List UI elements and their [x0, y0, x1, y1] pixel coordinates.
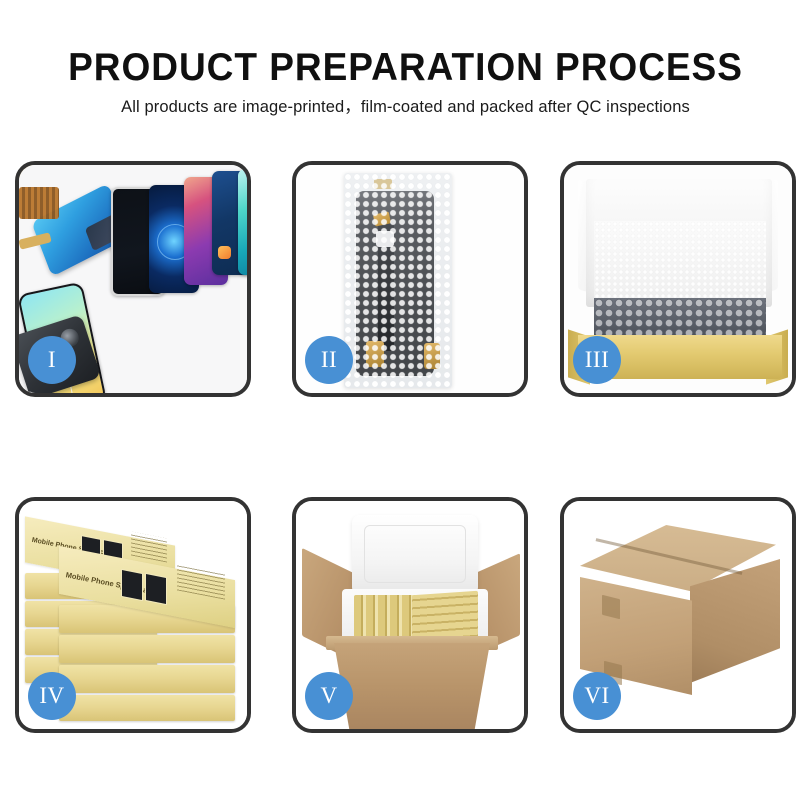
- process-step-grid: I II: [0, 0, 811, 811]
- gold-box-stack-front: [59, 695, 235, 721]
- box-window-front-1: [121, 569, 143, 601]
- process-step-5: V: [292, 497, 528, 733]
- phone-teal: [238, 169, 247, 275]
- step-badge-4: IV: [28, 672, 76, 720]
- process-step-4: Mobile Phone Spare Parts Mobile Phone Sp…: [15, 497, 251, 733]
- step-badge-6: VI: [573, 672, 621, 720]
- process-step-1: I: [15, 161, 251, 397]
- bubble-wrapped-contents: [594, 298, 766, 338]
- step-badge-3: III: [573, 336, 621, 384]
- foam-box-lid: [352, 515, 478, 595]
- process-step-2: II: [292, 161, 528, 397]
- foam-liner: [594, 221, 766, 299]
- gold-contact-left: [366, 341, 384, 367]
- product-preparation-infographic: PRODUCT PREPARATION PROCESS All products…: [0, 0, 811, 811]
- screen-connector: [376, 231, 394, 247]
- bag-seal-tab: [374, 179, 392, 189]
- carton-tape-patch-upper: [602, 595, 620, 619]
- process-step-3: III: [560, 161, 796, 397]
- step-badge-2: II: [305, 336, 353, 384]
- gold-box-stack-front: [59, 665, 235, 693]
- gold-contact-right: [424, 343, 440, 369]
- phone-app-icon: [218, 246, 231, 259]
- box-window-front-2: [145, 573, 167, 605]
- logic-board-chip: [19, 187, 59, 219]
- gold-box-stack-front: [59, 635, 235, 663]
- bubble-wrap-bag: [344, 173, 452, 388]
- process-step-6: VI: [560, 497, 796, 733]
- step-badge-5: V: [305, 672, 353, 720]
- step-badge-1: I: [28, 336, 76, 384]
- carton-body: [334, 643, 490, 729]
